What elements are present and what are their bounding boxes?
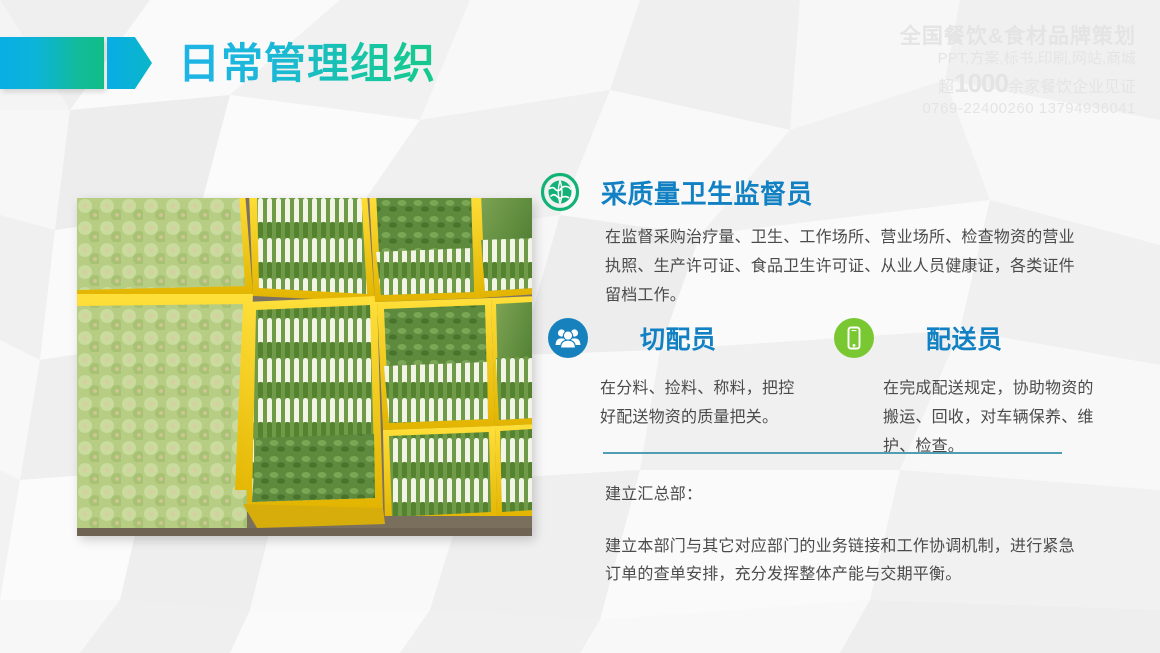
slide-canvas: 日常管理组织 全国餐饮&食材品牌策划 PPT,方案,标书,印刷,网站,商城 超1… xyxy=(0,0,1160,653)
banner-gradient-bar xyxy=(0,37,104,89)
watermark-line-3-number: 1000 xyxy=(954,68,1008,98)
section-header: 配送员 xyxy=(823,318,1113,358)
photo-artwork xyxy=(77,198,532,536)
section-quality-supervisor: 采质量卫生监督员 在监督采购治疗量、卫生、工作场所、营业场所、检查物资的营业执照… xyxy=(540,172,1140,310)
section-cutting-allocator: 切配员 在分料、捡料、称料，把控好配送物资的质量把关。 xyxy=(540,318,822,432)
footer-body: 建立本部门与其它对应部门的业务链接和工作协调机制，进行紧急订单的查单安排，充分发… xyxy=(605,533,1075,589)
section-body: 在完成配送规定，协助物资的搬运、回收，对车辆保养、维护、检查。 xyxy=(883,374,1103,461)
section-divider xyxy=(603,452,1062,454)
watermark-phone-numbers: 0769-22400260 13794936041 xyxy=(900,100,1136,118)
section-title: 切配员 xyxy=(640,320,717,356)
watermark-line-3-suffix: 余家餐饮企业见证 xyxy=(1008,79,1136,96)
section-header: 采质量卫生监督员 xyxy=(540,172,1140,212)
section-title: 采质量卫生监督员 xyxy=(601,174,813,211)
section-header: 切配员 xyxy=(540,318,822,358)
group-icon xyxy=(548,318,588,358)
section-body: 在监督采购治疗量、卫生、工作场所、营业场所、检查物资的营业执照、生产许可证、食品… xyxy=(605,223,1083,310)
page-title: 日常管理组织 xyxy=(178,38,436,90)
watermark-line-2: PPT,方案,标书,印刷,网站,商城 xyxy=(900,50,1136,68)
footer-summary-block: 建立汇总部： 建立本部门与其它对应部门的业务链接和工作协调机制，进行紧急订单的查… xyxy=(605,482,1075,589)
watermark-line-3: 超1000余家餐饮企业见证 xyxy=(900,68,1136,100)
arrow-right-icon xyxy=(107,37,152,89)
watermark: 全国餐饮&食材品牌策划 PPT,方案,标书,印刷,网站,商城 超1000余家餐饮… xyxy=(900,24,1136,118)
section-title: 配送员 xyxy=(926,320,1003,356)
watermark-line-3-prefix: 超 xyxy=(938,79,954,96)
title-banner xyxy=(0,37,152,89)
section-body: 在分料、捡料、称料，把控好配送物资的质量把关。 xyxy=(600,374,810,432)
footer-label: 建立汇总部： xyxy=(605,482,1075,508)
watermark-line-1: 全国餐饮&食材品牌策划 xyxy=(900,24,1136,50)
vegetable-crates-photo xyxy=(77,198,532,536)
phone-icon xyxy=(834,318,874,358)
section-delivery-staff: 配送员 在完成配送规定，协助物资的搬运、回收，对车辆保养、维护、检查。 xyxy=(823,318,1113,461)
globe-icon xyxy=(540,172,580,212)
